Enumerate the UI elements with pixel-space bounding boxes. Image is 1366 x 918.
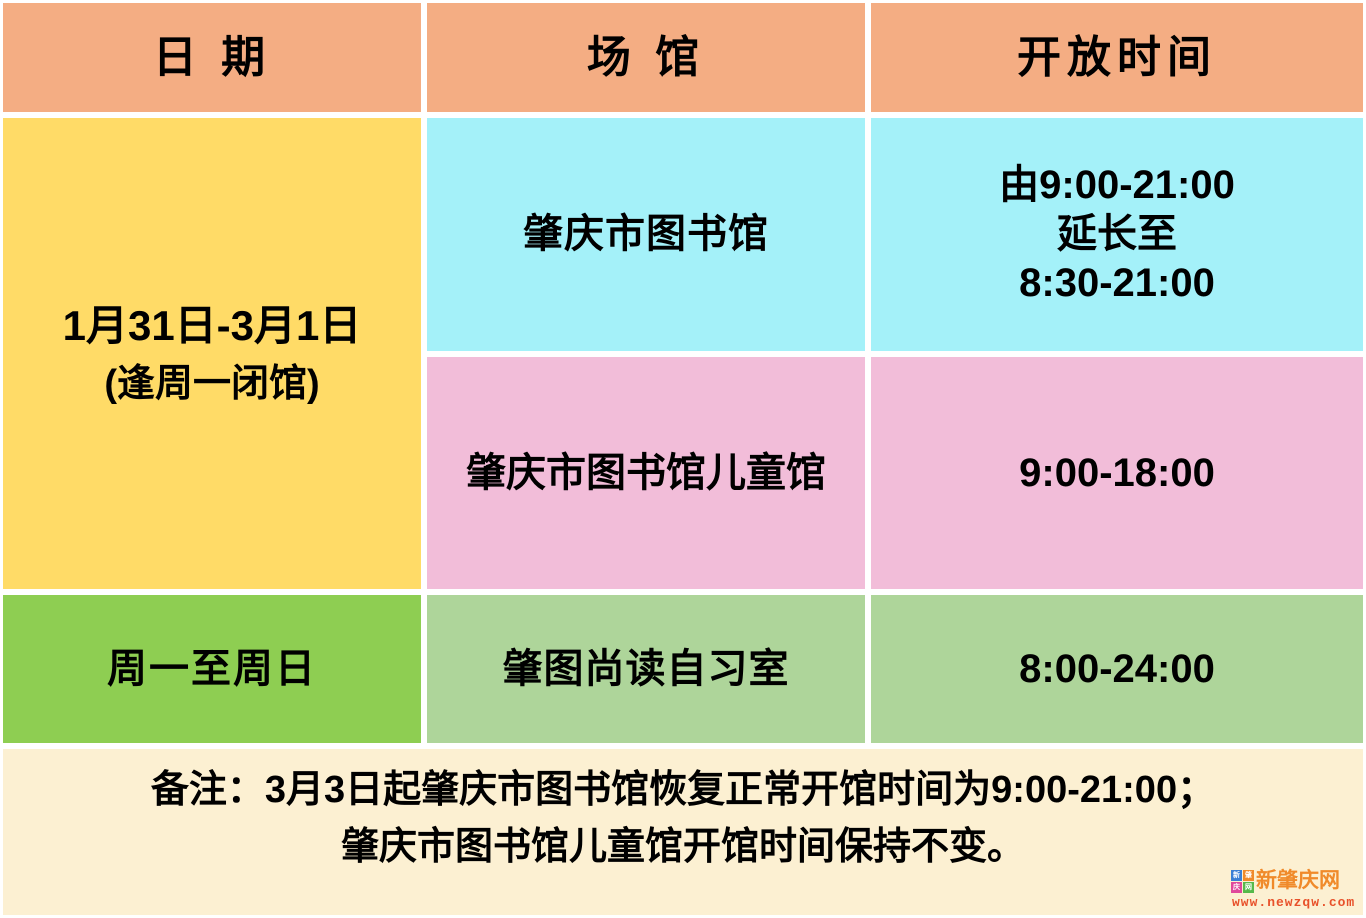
table-cell-venue-children-library: 肇庆市图书馆儿童馆: [427, 357, 865, 589]
logo-square-3: 庆: [1231, 882, 1242, 893]
footer-note-line-1: 备注：3月3日起肇庆市图书馆恢复正常开馆时间为9:00-21:00；: [151, 762, 1215, 819]
hours-library-line-3: 8:30-21:00: [1019, 259, 1215, 308]
opening-hours-table: 日 期 场 馆 开放时间 1月31日-3月1日 (逢周一闭馆) 周一至周日 肇庆…: [0, 0, 1366, 918]
watermark-site-name: 新肇庆网: [1256, 869, 1340, 893]
logo-square-1: 新: [1231, 870, 1242, 881]
site-watermark: 新 肇 庆 网 新肇庆网 www.newzqw.com: [1231, 866, 1361, 912]
table-header-date: 日 期: [3, 3, 421, 112]
table-cell-hours-children-library: 9:00-18:00: [871, 357, 1363, 589]
table-cell-hours-study-room: 8:00-24:00: [871, 595, 1363, 743]
watermark-top-row: 新 肇 庆 网 新肇庆网: [1231, 868, 1340, 894]
footer-note: 备注：3月3日起肇庆市图书馆恢复正常开馆时间为9:00-21:00； 肇庆市图书…: [3, 749, 1363, 915]
table-header-venue: 场 馆: [427, 3, 865, 112]
date-range-line-2: (逢周一闭馆): [104, 361, 319, 407]
table-cell-hours-library: 由9:00-21:00 延长至 8:30-21:00: [871, 118, 1363, 351]
table-cell-date-range: 1月31日-3月1日 (逢周一闭馆): [3, 118, 421, 589]
watermark-url: www.newzqw.com: [1232, 895, 1355, 910]
table-cell-venue-library: 肇庆市图书馆: [427, 118, 865, 351]
logo-square-2: 肇: [1243, 870, 1254, 881]
site-logo-icon: 新 肇 庆 网: [1231, 870, 1254, 893]
table-cell-venue-study-room: 肇图尚读自习室: [427, 595, 865, 743]
date-range-line-1: 1月31日-3月1日: [63, 300, 362, 351]
logo-square-4: 网: [1243, 882, 1254, 893]
hours-library-line-2: 延长至: [1057, 210, 1177, 259]
footer-note-line-2: 肇庆市图书馆儿童馆开馆时间保持不变。: [341, 819, 1025, 876]
table-header-hours: 开放时间: [871, 3, 1363, 112]
hours-library-line-1: 由9:00-21:00: [999, 161, 1235, 210]
table-cell-date-week: 周一至周日: [3, 595, 421, 743]
